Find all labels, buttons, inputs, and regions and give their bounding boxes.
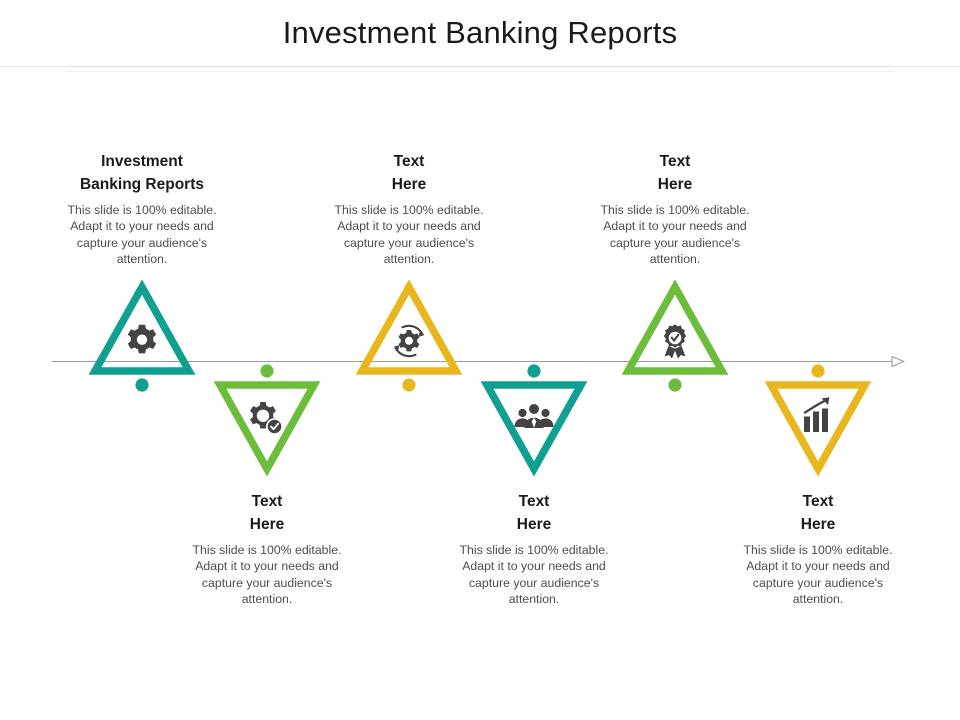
stage-5-axis-dot [668, 378, 681, 391]
page-title: Investment Banking Reports [0, 14, 960, 52]
stage-3-axis-dot [402, 378, 415, 391]
stage-1-text: Investment Banking Reports This slide is… [42, 150, 242, 268]
stage-6-marker[interactable] [718, 362, 918, 482]
award-badge-icon [664, 324, 686, 358]
gear-check-icon [250, 402, 282, 434]
stage-4-heading: Text Here [434, 490, 634, 536]
gear-icon [128, 325, 156, 354]
stage-5-body: This slide is 100% editable. Adapt it to… [575, 202, 775, 268]
team-group-icon [515, 404, 554, 428]
stage-3-text: Text Here This slide is 100% editable. A… [309, 150, 509, 268]
stage-6-heading: Text Here [718, 490, 918, 536]
stage-6-body: This slide is 100% editable. Adapt it to… [718, 542, 918, 608]
header-divider-inner [66, 71, 894, 72]
stage-1-body: This slide is 100% editable. Adapt it to… [42, 202, 242, 268]
stage-6-axis-dot [811, 364, 824, 377]
stage-4-text: Text Here This slide is 100% editable. A… [434, 490, 634, 608]
slide-header: Investment Banking Reports [0, 0, 960, 72]
stage-2-heading: Text Here [167, 490, 367, 536]
stage-6-text: Text Here This slide is 100% editable. A… [718, 490, 918, 608]
stage-2-body: This slide is 100% editable. Adapt it to… [167, 542, 367, 608]
growth-chart-icon [804, 397, 829, 432]
gear-refresh-icon [394, 326, 424, 356]
stage-1-axis-dot [135, 378, 148, 391]
stage-5-heading: Text Here [575, 150, 775, 196]
stage-4-axis-dot [527, 364, 540, 377]
stage-1-heading: Investment Banking Reports [42, 150, 242, 196]
stage-3-body: This slide is 100% editable. Adapt it to… [309, 202, 509, 268]
header-divider-outer [0, 66, 960, 67]
stage-3-heading: Text Here [309, 150, 509, 196]
stage-2-text: Text Here This slide is 100% editable. A… [167, 490, 367, 608]
stage-4-body: This slide is 100% editable. Adapt it to… [434, 542, 634, 608]
stage-5-text: Text Here This slide is 100% editable. A… [575, 150, 775, 268]
stage-2-axis-dot [260, 364, 273, 377]
